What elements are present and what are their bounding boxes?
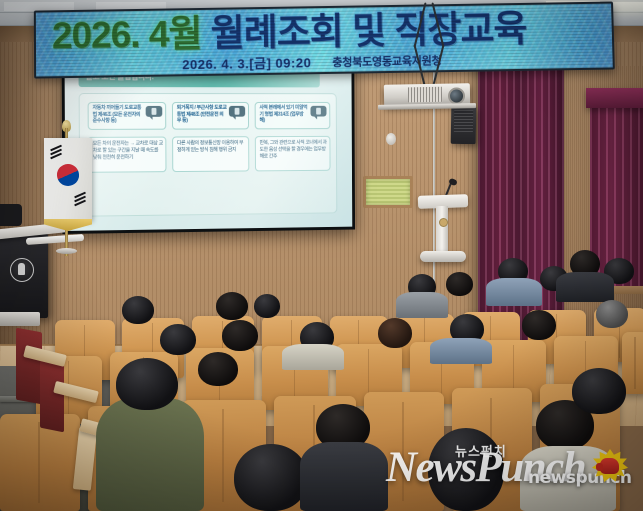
curtain-valance	[586, 88, 643, 108]
podium-base	[0, 312, 40, 326]
podium-emblem-icon	[10, 258, 34, 282]
slide-box: 퇴거폭지 / 부근사항 도로교통법 제48조 (안전운전 의무 등) 다른 사람…	[172, 102, 249, 172]
projector-lens	[448, 87, 465, 104]
audience-head	[254, 294, 280, 318]
audience-head-front	[234, 444, 308, 511]
slide-box-desc: 반복, 그와 관련으로 사적 코너에서 과도한 음성 선택을 할 경우에는 업무…	[255, 136, 331, 172]
flag-stand-base	[56, 248, 77, 254]
slide-box-desc-text: 다른 사람의 정보통신망 이용하여 부정하게 얻는 방식 침해 행위 금지	[177, 140, 246, 154]
audience-head	[216, 292, 248, 320]
wall-knob	[386, 133, 396, 145]
audience-shoulders	[96, 398, 204, 511]
speech-bubble-icon	[229, 106, 245, 117]
projection-screen: 알고 보면 불법입니다. 자동차 끼어들기 도로교통법 제46조 (모든 운전자…	[62, 58, 356, 234]
seat-side-panel	[16, 328, 42, 405]
audience-head	[446, 272, 473, 296]
audience-head	[122, 296, 154, 324]
led-title-green: 2026. 4월	[52, 13, 202, 56]
audience-shoulders	[556, 272, 614, 302]
led-banner-title: 2026. 4월 월례조회 및 직장교육	[52, 5, 600, 60]
slide-box-title-text: 퇴거폭지 / 부근사항 도로교통법 제48조 (안전운전 의무 등)	[177, 105, 227, 124]
slide-box-title: 퇴거폭지 / 부근사항 도로교통법 제48조 (안전운전 의무 등)	[172, 102, 249, 130]
audience-head	[522, 310, 556, 340]
boxing-glove-icon	[592, 449, 628, 483]
audience-head	[596, 300, 628, 328]
slide-box-title-text: 사적 본래에서 있기 미알먹기 형법 제314조 (업무방해)	[259, 105, 308, 124]
projector-scissor-mount	[415, 2, 461, 88]
stage-curtain-main	[478, 26, 564, 356]
wall-speaker	[451, 106, 477, 144]
korean-flag	[44, 138, 92, 220]
led-banner-datetime: 2026. 4. 3.[금] 09:20	[182, 52, 311, 73]
slide-body: 자동차 끼어들기 도로교통법 제46조 (모든 운전자의 준수사항 등) 모든 …	[79, 93, 338, 217]
news-photo: 알고 보면 불법입니다. 자동차 끼어들기 도로교통법 제46조 (모든 운전자…	[0, 0, 643, 511]
audience-head	[378, 318, 412, 348]
audience-shoulders	[486, 278, 542, 306]
speech-bubble-icon	[310, 106, 326, 117]
audience-head-front	[116, 358, 178, 410]
slide-box-title-text: 자동차 끼어들기 도로교통법 제46조 (모든 운전자의 준수사항 등)	[93, 105, 144, 124]
seat-side-panel	[40, 360, 64, 433]
audience-head	[160, 324, 196, 355]
led-title-blue: 월례조회 및 직장교육	[210, 8, 526, 54]
audience-shoulders	[300, 442, 388, 511]
taeguk-symbol	[53, 160, 82, 189]
audience-head	[572, 368, 626, 414]
slide-box-desc: 다른 사람의 정보통신망 이용하여 부정하게 얻는 방식 침해 행위 금지	[172, 136, 249, 172]
slide-box-desc: 모든 차의 운전자는 → 교차로 대상 교차로 할 있는 구간을 지날 때 속도…	[88, 137, 167, 173]
slide-box-desc-text: 모든 차의 운전자는 → 교차로 대상 교차로 할 있는 구간을 지날 때 속도…	[93, 141, 164, 162]
lectern-base	[420, 251, 466, 262]
auditorium-seat	[0, 414, 80, 511]
wall-window	[363, 176, 413, 208]
slide-box-desc-text: 반복, 그와 관련으로 사적 코너에서 과도한 음성 선택을 할 경우에는 업무…	[260, 140, 328, 161]
audience-head	[222, 320, 258, 351]
audience-shoulders	[282, 344, 344, 370]
slide-box-title: 자동차 끼어들기 도로교통법 제46조 (모든 운전자의 준수사항 등)	[88, 102, 167, 130]
lectern-button	[439, 218, 448, 227]
lectern-column	[436, 206, 448, 254]
audience-shoulders	[396, 292, 448, 318]
audience-head	[198, 352, 238, 386]
ceiling-light	[612, 2, 643, 11]
slide-box: 사적 본래에서 있기 미알먹기 형법 제314조 (업무방해) 반복, 그와 관…	[255, 102, 331, 171]
audience-shoulders	[430, 338, 492, 364]
slide-box: 자동차 끼어들기 도로교통법 제46조 (모든 운전자의 준수사항 등) 모든 …	[88, 102, 167, 173]
slide-box-title: 사적 본래에서 있기 미알먹기 형법 제314조 (업무방해)	[255, 102, 331, 129]
podium-equipment	[0, 204, 22, 226]
led-banner: 2026. 4월 월례조회 및 직장교육 2026. 4. 3.[금] 09:2…	[34, 2, 615, 79]
speech-bubble-icon	[146, 106, 163, 117]
